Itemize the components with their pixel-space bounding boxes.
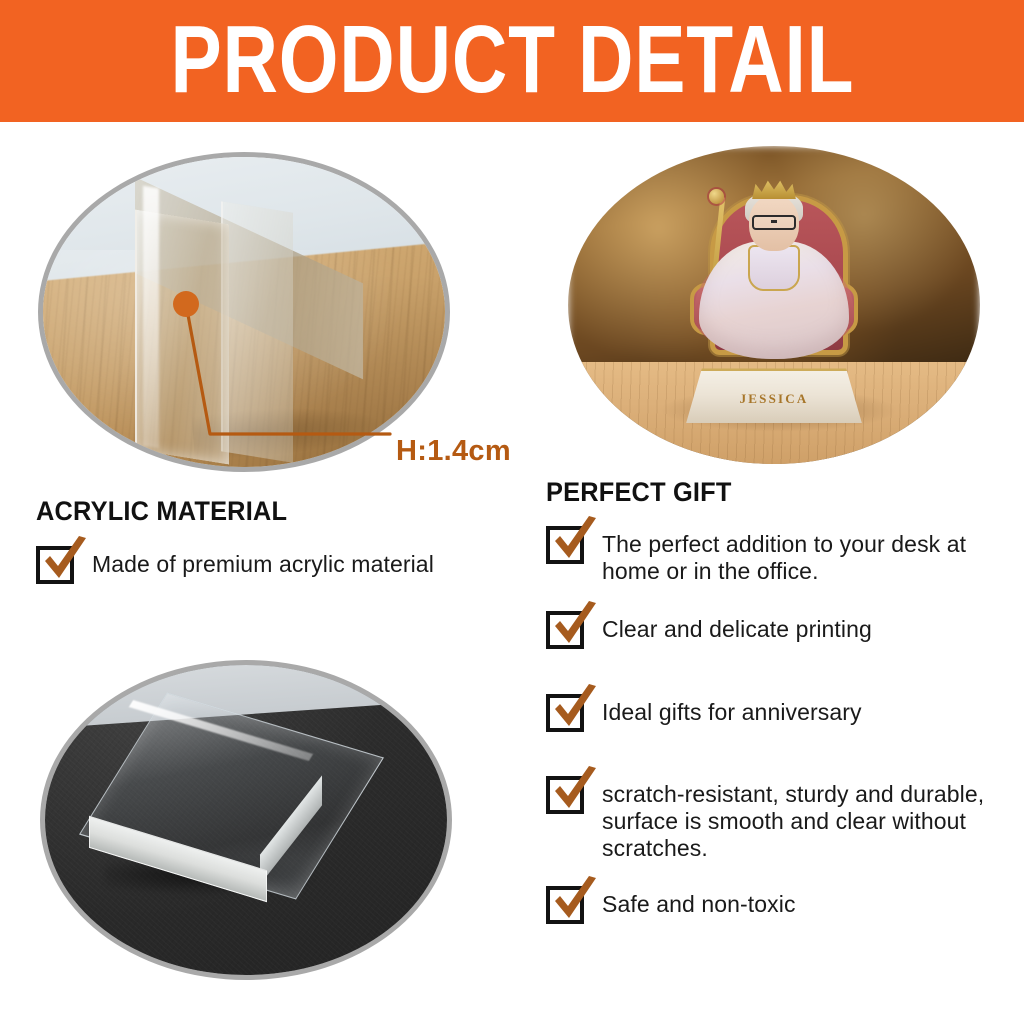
list-item-label: Clear and delicate printing (602, 611, 872, 643)
engraved-name: JESSICA (740, 391, 809, 407)
page-header-banner: PRODUCT DETAIL (0, 0, 1024, 122)
page-title: PRODUCT DETAIL (170, 12, 854, 108)
list-item-label: Safe and non-toxic (602, 886, 796, 918)
list-item: Clear and delicate printing (546, 611, 1016, 649)
checkbox-checked[interactable] (546, 611, 584, 649)
height-callout-label: H:1.4cm (396, 435, 511, 468)
list-item: The perfect addition to your desk at hom… (546, 526, 1016, 585)
gown-bodice (748, 245, 800, 291)
list-item: Safe and non-toxic (546, 886, 1016, 924)
figurine: JESSICA (684, 171, 864, 419)
list-item: Made of premium acrylic material (36, 546, 526, 584)
list-item: scratch-resistant, sturdy and durable, s… (546, 776, 1016, 862)
checkbox-checked[interactable] (546, 694, 584, 732)
block-highlight (143, 186, 159, 449)
list-item-label: Ideal gifts for anniversary (602, 694, 862, 726)
section-title-acrylic-material: ACRYLIC MATERIAL (36, 496, 287, 527)
list-item-label: Made of premium acrylic material (92, 546, 434, 578)
product-detail-page: PRODUCT DETAIL (0, 0, 1024, 1024)
check-icon (549, 766, 601, 816)
check-icon (39, 536, 91, 586)
check-icon (549, 876, 601, 926)
photo-acrylic-block-flat (40, 660, 452, 980)
checkbox-checked[interactable] (546, 776, 584, 814)
list-item-label: The perfect addition to your desk at hom… (602, 526, 1016, 585)
photo-acrylic-block-edge (38, 152, 450, 472)
list-item-label: scratch-resistant, sturdy and durable, s… (602, 776, 1016, 862)
glasses-icon (752, 215, 796, 230)
checkbox-checked[interactable] (546, 886, 584, 924)
crown-icon (752, 179, 796, 199)
section-title-perfect-gift: PERFECT GIFT (546, 477, 732, 508)
block-right-face (221, 201, 293, 462)
list-item: Ideal gifts for anniversary (546, 694, 1016, 732)
check-icon (549, 516, 601, 566)
check-icon (549, 601, 601, 651)
checkbox-checked[interactable] (36, 546, 74, 584)
scepter-orb-icon (709, 189, 724, 204)
photo-queen-figurine: JESSICA (568, 146, 980, 464)
checkbox-checked[interactable] (546, 526, 584, 564)
feature-list-perfect-gift: The perfect addition to your desk at hom… (546, 526, 1016, 924)
feature-list-acrylic-material: Made of premium acrylic material (36, 546, 526, 584)
check-icon (549, 684, 601, 734)
